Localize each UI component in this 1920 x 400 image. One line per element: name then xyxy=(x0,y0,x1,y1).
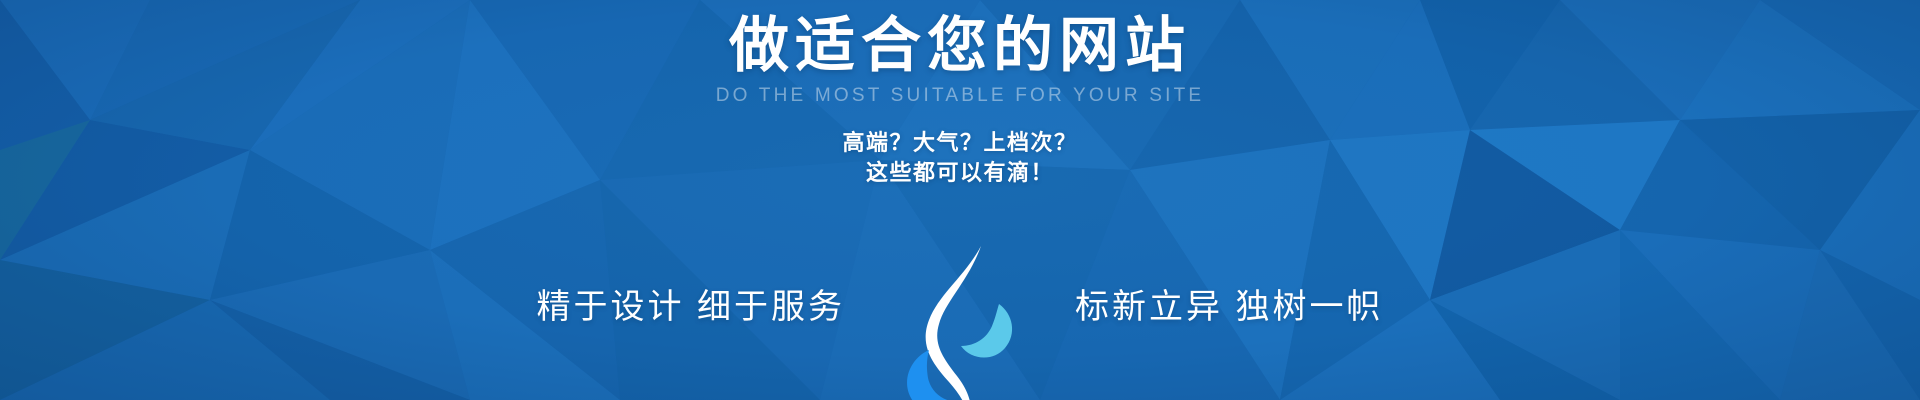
logo-stem-shape xyxy=(926,246,981,400)
slogan-right: 标新立异 独树一帜 xyxy=(1025,279,1445,328)
tagline-line-1: 高端？大气？上档次？ xyxy=(0,128,1920,158)
slogan-left: 精于设计 细于服务 xyxy=(475,279,895,328)
logo-svg xyxy=(895,242,1025,400)
logo-leaf-top-shape xyxy=(961,304,1012,358)
hero-banner: 做适合您的网站 DO THE MOST SUITABLE FOR YOUR SI… xyxy=(0,0,1920,400)
slogan-row: 精于设计 细于服务 标新立异 独树一帜 xyxy=(0,208,1920,398)
page-title: 做适合您的网站 xyxy=(0,14,1920,77)
leaf-stem-logo-icon xyxy=(895,242,1025,400)
tagline-block: 高端？大气？上档次？ 这些都可以有滴！ xyxy=(0,128,1920,189)
banner-content: 做适合您的网站 DO THE MOST SUITABLE FOR YOUR SI… xyxy=(0,0,1920,400)
tagline-line-2: 这些都可以有滴！ xyxy=(0,158,1920,188)
headline-subtitle-en: DO THE MOST SUITABLE FOR YOUR SITE xyxy=(0,86,1920,105)
headline-block: 做适合您的网站 DO THE MOST SUITABLE FOR YOUR SI… xyxy=(0,14,1920,105)
